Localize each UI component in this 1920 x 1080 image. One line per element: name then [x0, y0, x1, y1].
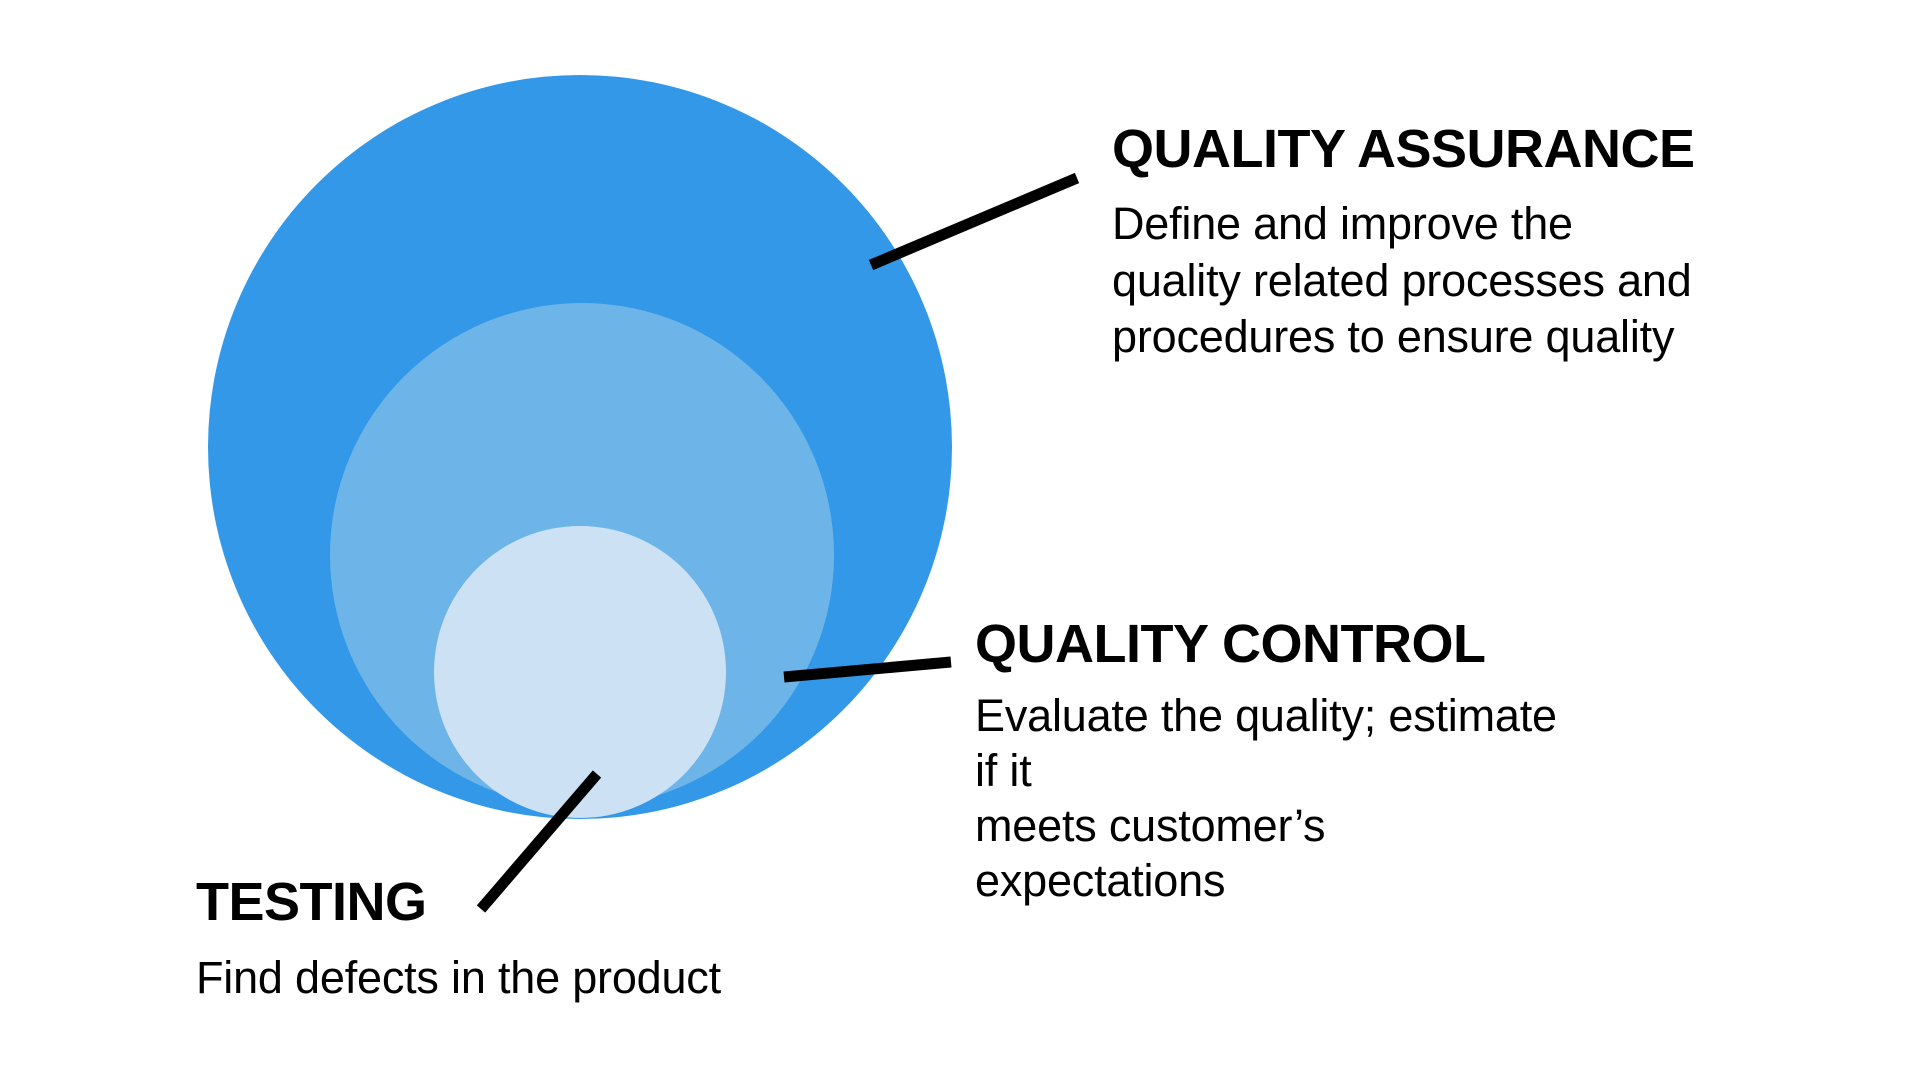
callout-body-line: Define and improve the: [1112, 196, 1732, 253]
callout-title-quality-control: QUALITY CONTROL: [975, 617, 1615, 671]
callout-body-quality-assurance: Define and improve the quality related p…: [1112, 196, 1732, 366]
callout-title-testing: TESTING: [196, 875, 816, 929]
callout-title-quality-assurance: QUALITY ASSURANCE: [1112, 122, 1792, 176]
callout-body-testing: Find defects in the product: [196, 951, 816, 1006]
callout-body-line: procedures to ensure quality: [1112, 309, 1732, 366]
callout-body-line: meets customer’s expectations: [975, 799, 1575, 909]
callout-body-line: quality related processes and: [1112, 253, 1732, 310]
callout-body-line: Find defects in the product: [196, 951, 816, 1006]
callout-quality-control: QUALITY CONTROL Evaluate the quality; es…: [975, 617, 1615, 909]
callout-testing: TESTING Find defects in the product: [196, 875, 816, 1006]
callout-body-quality-control: Evaluate the quality; estimate if it mee…: [975, 689, 1575, 909]
circle-testing[interactable]: [434, 526, 726, 818]
leader-line-quality-assurance: [871, 178, 1077, 265]
diagram-canvas: QUALITY ASSURANCE Define and improve the…: [0, 0, 1920, 1080]
callout-quality-assurance: QUALITY ASSURANCE Define and improve the…: [1112, 122, 1792, 366]
callout-body-line: Evaluate the quality; estimate if it: [975, 689, 1575, 799]
